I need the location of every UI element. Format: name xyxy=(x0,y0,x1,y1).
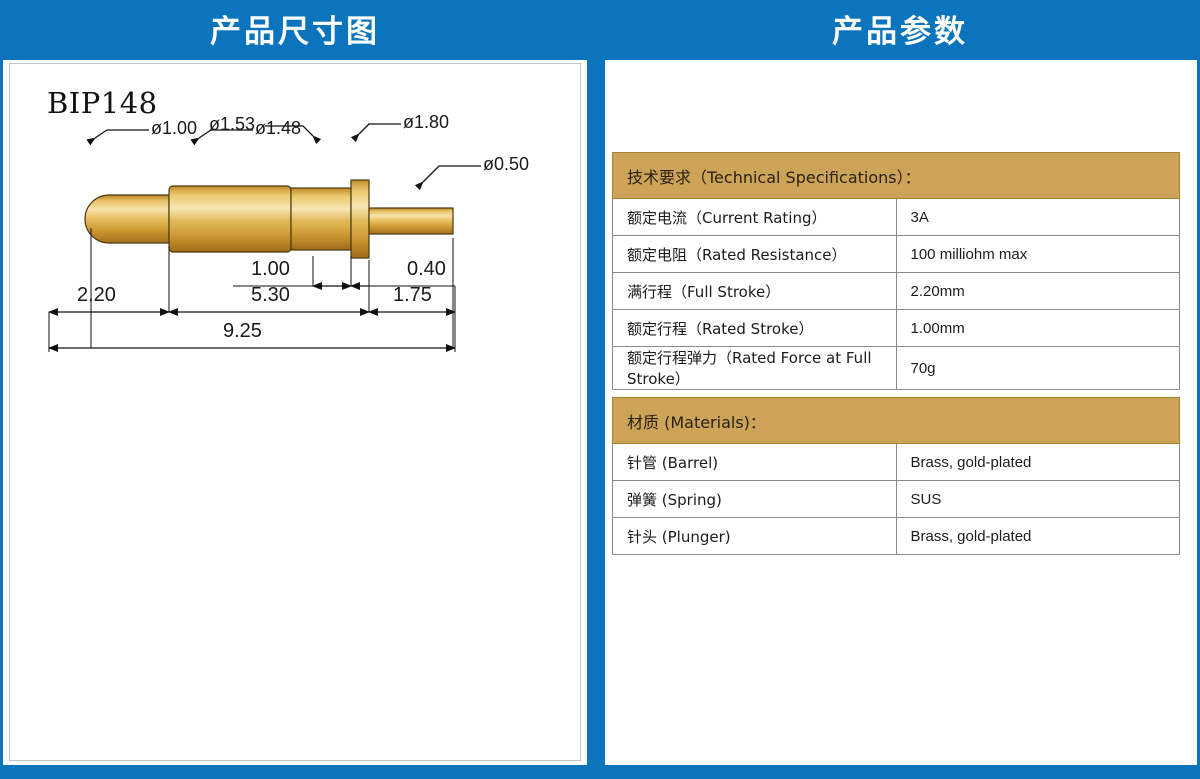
dimension-label-tail-length: 1.75 xyxy=(393,284,432,307)
spec-label: 额定电阻（Rated Resistance） xyxy=(613,236,897,273)
dimension-label-dia-tail: ø0.50 xyxy=(483,154,529,175)
spec-value: 70g xyxy=(896,347,1180,390)
dimension-label-barrel-length: 5.30 xyxy=(251,284,290,307)
dimension-label-overall-length: 9.25 xyxy=(223,320,262,343)
dimension-label-dia-flange: ø1.80 xyxy=(403,112,449,133)
material-label: 针管 (Barrel) xyxy=(613,444,897,481)
barrel-step xyxy=(291,188,351,250)
leader-dia-tail xyxy=(423,166,481,182)
table-row: 针管 (Barrel) Brass, gold-plated xyxy=(613,444,1180,481)
dimension-drawing-panel: BIP148 xyxy=(3,60,587,765)
dimension-label-dia-step: ø1.53 xyxy=(209,114,255,135)
pogo-pin-drawing: BIP148 xyxy=(3,60,587,765)
materials-table-title: 材质 (Materials)： xyxy=(613,398,1180,444)
material-value: SUS xyxy=(896,481,1180,518)
table-row: 满行程（Full Stroke） 2.20mm xyxy=(613,273,1180,310)
dimension-label-dia-barrel: ø1.48 xyxy=(255,118,301,139)
table-row: 弹簧 (Spring) SUS xyxy=(613,481,1180,518)
materials-table: 材质 (Materials)： 针管 (Barrel) Brass, gold-… xyxy=(612,397,1180,555)
spec-value: 1.00mm xyxy=(896,310,1180,347)
material-label: 弹簧 (Spring) xyxy=(613,481,897,518)
spec-value: 3A xyxy=(896,199,1180,236)
leader-dia-plunger xyxy=(95,130,149,138)
leader-dia-flange xyxy=(359,124,401,134)
material-label: 针头 (Plunger) xyxy=(613,518,897,555)
table-header-row: 材质 (Materials)： xyxy=(613,398,1180,444)
spec-label: 满行程（Full Stroke） xyxy=(613,273,897,310)
panel-divider xyxy=(590,0,602,779)
dimension-label-dia-plunger: ø1.00 xyxy=(151,118,197,139)
spec-value: 2.20mm xyxy=(896,273,1180,310)
technical-specifications-table: 技术要求（Technical Specifications）： 额定电流（Cur… xyxy=(612,152,1180,390)
table-header-row: 技术要求（Technical Specifications）： xyxy=(613,153,1180,199)
table-row: 额定行程弹力（Rated Force at Full Stroke） 70g xyxy=(613,347,1180,390)
flange xyxy=(351,180,369,258)
table-row: 针头 (Plunger) Brass, gold-plated xyxy=(613,518,1180,555)
page-title-dimensions: 产品尺寸图 xyxy=(210,6,380,51)
dimension-label-flange-width: 0.40 xyxy=(407,258,446,281)
table-row: 额定电流（Current Rating） 3A xyxy=(613,199,1180,236)
tail-pin xyxy=(369,208,453,234)
parameters-panel: 技术要求（Technical Specifications）： 额定电流（Cur… xyxy=(605,60,1197,765)
spec-label: 额定电流（Current Rating） xyxy=(613,199,897,236)
table-row: 额定行程（Rated Stroke） 1.00mm xyxy=(613,310,1180,347)
header-band-parameters: 产品参数 xyxy=(600,0,1200,57)
header-band-dimensions: 产品尺寸图 xyxy=(0,0,590,57)
page-title-parameters: 产品参数 xyxy=(832,6,968,51)
footer-band xyxy=(0,765,1200,779)
spec-label: 额定行程弹力（Rated Force at Full Stroke） xyxy=(613,347,897,390)
spec-label: 额定行程（Rated Stroke） xyxy=(613,310,897,347)
dimension-label-stroke-area: 2.20 xyxy=(77,284,116,307)
table-row: 额定电阻（Rated Resistance） 100 milliohm max xyxy=(613,236,1180,273)
material-value: Brass, gold-plated xyxy=(896,444,1180,481)
technical-table-title: 技术要求（Technical Specifications）： xyxy=(613,153,1180,199)
spec-value: 100 milliohm max xyxy=(896,236,1180,273)
material-value: Brass, gold-plated xyxy=(896,518,1180,555)
barrel-body xyxy=(169,186,291,252)
dimension-label-rated-stroke: 1.00 xyxy=(251,258,290,281)
plunger-body xyxy=(85,195,169,243)
product-spec-sheet: 产品尺寸图 产品参数 BIP148 xyxy=(0,0,1200,779)
